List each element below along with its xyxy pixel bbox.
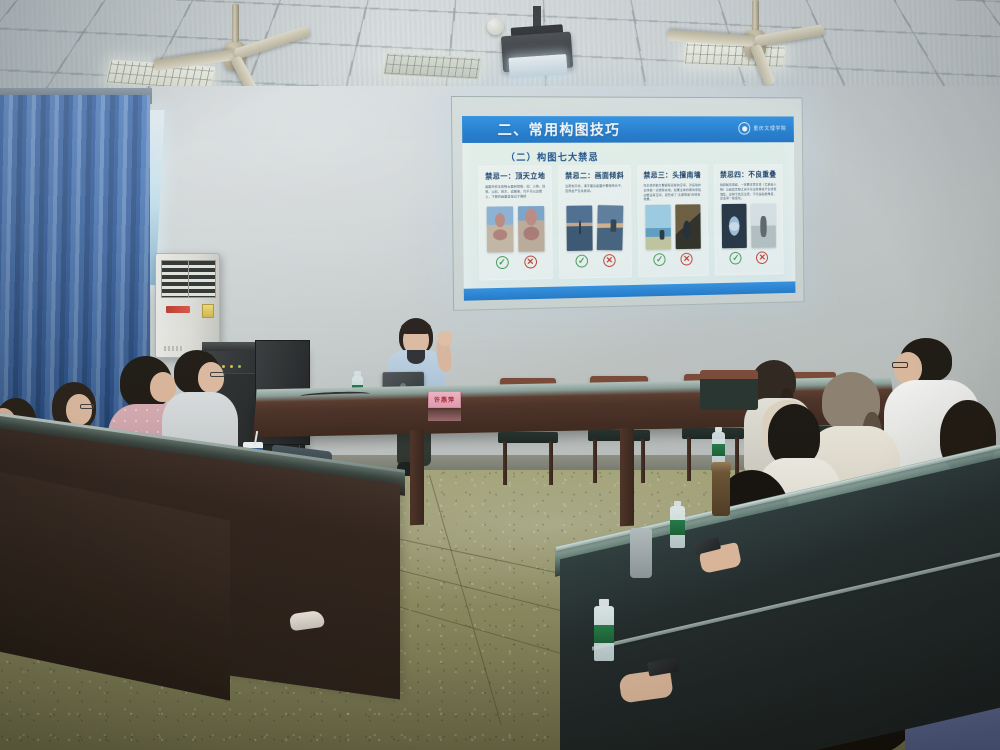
fan-rod	[752, 0, 759, 32]
card-verdict-row: ✓ ✕	[730, 251, 768, 264]
card-title: 禁忌四：不良重叠	[720, 170, 776, 180]
bird-flight-correct-thumb	[645, 205, 671, 250]
card-image-pair	[567, 205, 624, 251]
check-icon: ✓	[575, 255, 588, 268]
presenter-hand	[438, 331, 452, 346]
emblem-circle	[739, 122, 751, 134]
chair-leg	[641, 439, 645, 483]
slide-title: 二、常用构图技巧	[497, 119, 620, 140]
check-icon: ✓	[730, 252, 742, 265]
card-body-text: 在主体的前方要留有足够的空间，对运动的主体留一点想象余地，如果主体的朝向紧贴边框…	[643, 183, 701, 202]
card-verdict-row: ✓ ✕	[575, 254, 615, 267]
flask-lid	[711, 462, 731, 472]
attendee-hair	[768, 404, 820, 466]
card-title: 禁忌二：画面倾斜	[565, 171, 624, 181]
presentation-slide: 二、常用构图技巧 重庆文理学院 （二）构图七大禁忌 禁忌一：顶天立地 画面中的主…	[462, 116, 795, 301]
name-plate-reflection	[428, 408, 461, 421]
presenter-name-plate: 许燕萍	[428, 391, 461, 408]
check-icon: ✓	[496, 256, 509, 269]
slide-header-bar: 二、常用构图技巧 重庆文理学院	[462, 116, 794, 143]
card-body-text: 拍摄前应观察，一定要注意主体（尤其是人物）与前后景物之间不可出现重叠产生视觉混乱…	[720, 182, 777, 201]
chair-leg	[549, 441, 553, 485]
bottle-cap	[715, 427, 722, 432]
projector-body	[501, 32, 573, 73]
mosque-correct-thumb	[487, 206, 514, 252]
taboo-card: 禁忌二：画面倾斜 注意地平线，海平面在画面中要保持水平，否则会产生失衡感。 ✓ …	[558, 165, 631, 279]
projection-screen: 二、常用构图技巧 重庆文理学院 （二）构图七大禁忌 禁忌一：顶天立地 画面中的主…	[451, 96, 805, 311]
ceiling-fan-left	[205, 4, 265, 74]
cross-icon: ✕	[603, 254, 615, 267]
airplane-window-correct-thumb	[722, 204, 747, 249]
table-leg	[410, 430, 424, 526]
bottle-cap	[674, 501, 681, 506]
taboo-card: 禁忌一：顶天立地 画面中的主体物大面积顶格，如：人物、建筑、山石、树木、道路等，…	[478, 165, 553, 280]
cross-icon: ✕	[524, 255, 537, 268]
water-bottle[interactable]	[670, 506, 685, 548]
card-title: 禁忌三：头撞南墙	[643, 170, 701, 180]
taboo-card-row: 禁忌一：顶天立地 画面中的主体物大面积顶格，如：人物、建筑、山石、树木、道路等，…	[478, 164, 783, 280]
attendee-glasses-icon	[210, 372, 225, 377]
slide-subtitle: （二）构图七大禁忌	[506, 150, 599, 164]
presenter-collar	[407, 350, 425, 364]
overlap-incorrect-thumb	[751, 203, 776, 247]
taboo-card: 禁忌四：不良重叠 拍摄前应观察，一定要注意主体（尤其是人物）与前后景物之间不可出…	[714, 164, 784, 275]
cross-icon: ✕	[756, 251, 768, 264]
card-verdict-row: ✓ ✕	[496, 255, 537, 269]
attendee-glasses-icon	[80, 404, 94, 409]
meeting-room-photo: 二、常用构图技巧 重庆文理学院 （二）构图七大禁忌 禁忌一：顶天立地 画面中的主…	[0, 0, 1000, 750]
ac-brand-badge	[166, 306, 190, 313]
vacuum-flask[interactable]	[630, 528, 652, 578]
bottle-cap	[599, 599, 609, 606]
light-panel-grill	[384, 54, 480, 79]
water-bottle[interactable]	[594, 606, 614, 661]
fan-rod	[232, 4, 239, 44]
mosque-incorrect-thumb	[518, 206, 545, 252]
bottle-label	[712, 444, 725, 456]
vacuum-flask[interactable]	[712, 470, 730, 516]
card-image-pair	[487, 206, 545, 252]
foreground-chair-back[interactable]	[700, 370, 758, 410]
card-image-pair	[645, 204, 701, 249]
chair-leg	[503, 441, 507, 485]
cross-icon: ✕	[681, 253, 693, 266]
ac-grill-divider	[188, 260, 190, 298]
card-body-text: 注意地平线，海平面在画面中要保持水平，否则会产生失衡感。	[565, 184, 624, 203]
bottle-label	[670, 520, 685, 534]
card-image-pair	[722, 203, 776, 248]
card-title: 禁忌一：顶天立地	[485, 171, 545, 181]
university-emblem-icon: 重庆文理学院	[739, 122, 787, 134]
chair-leg	[687, 437, 691, 481]
attendee-head	[198, 362, 224, 393]
card-verdict-row: ✓ ✕	[653, 253, 692, 266]
attendee-glasses-icon	[892, 362, 908, 368]
lake-sunset-correct-thumb	[567, 205, 593, 251]
table-leg	[620, 428, 634, 527]
ceiling-fan-right	[725, 0, 785, 66]
projector-lens	[508, 54, 567, 78]
ac-energy-label	[202, 304, 214, 318]
taboo-card: 禁忌三：头撞南墙 在主体的前方要留有足够的空间，对运动的主体留一点想象余地，如果…	[637, 165, 708, 277]
bottle-cap	[354, 371, 361, 376]
check-icon: ✓	[653, 253, 665, 266]
card-body-text: 画面中的主体物大面积顶格，如：人物、建筑、山石、树木、道路等，均不可以边框上，下…	[485, 184, 546, 203]
bottle-label	[594, 625, 614, 644]
smoke-detector	[487, 18, 504, 35]
lake-sunset-tilted-thumb	[597, 205, 624, 251]
bird-flight-cramped-thumb	[675, 204, 701, 249]
name-plate-text: 许燕萍	[434, 395, 455, 404]
logo-text: 重庆文理学院	[753, 125, 786, 132]
presenter-hair-front	[401, 321, 431, 334]
chair-leg	[593, 439, 597, 483]
attendee-head	[66, 394, 92, 425]
ceiling-projector	[497, 6, 577, 76]
